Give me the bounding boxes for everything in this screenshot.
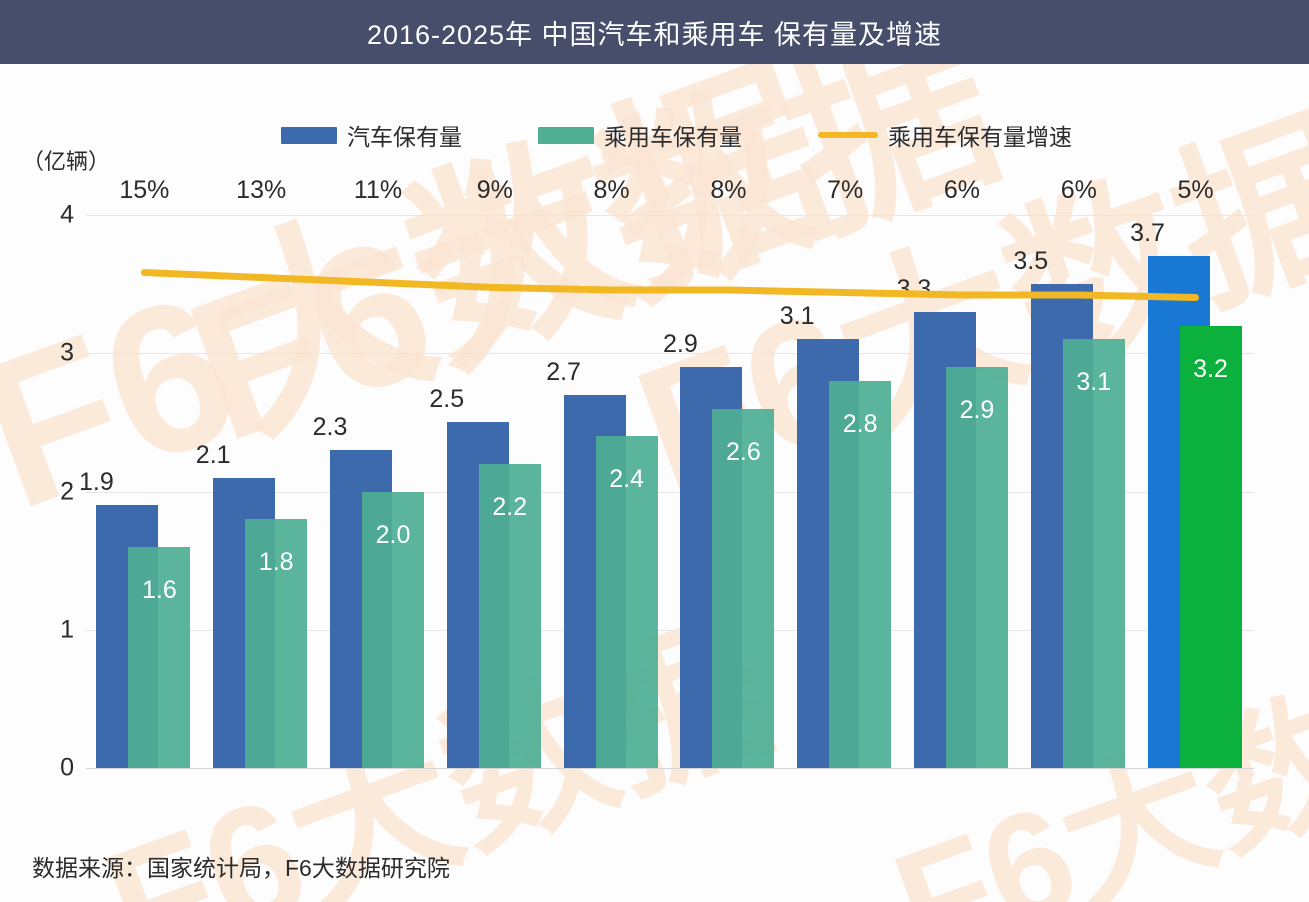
passenger-bar[interactable] [1180,326,1242,768]
passenger-bar-value-label: 1.8 [245,548,307,577]
passenger-bar-value-label: 2.6 [712,438,774,467]
growth-rate-label: 13% [203,176,320,210]
vehicle-bar-value-label: 2.3 [285,413,375,442]
gridline [86,768,1254,769]
bar-group-2017[interactable]: 2.11.8 [203,215,320,768]
y-axis-tick: 1 [42,615,74,644]
growth-rate-label-row: 15%13%11%9%8%8%7%6%6%5% [86,176,1254,210]
passenger-bar[interactable] [1063,339,1125,768]
y-axis-tick: 3 [42,339,74,368]
vehicle-bar-value-label: 3.7 [1103,219,1193,248]
bar-series-layer: 1.91.62.11.82.32.02.52.22.72.42.92.63.12… [86,215,1254,768]
x-axis-tick-row [86,776,1254,812]
legend-item-3[interactable]: 乘用车保有量增速 [818,118,1072,152]
legend-label: 乘用车保有量增速 [888,118,1072,152]
chart-canvas: F6大数据 F6大数据 F6大数据 F6大数据 F6大数据 汽车保有量乘用车保有… [0,64,1309,902]
growth-rate-label: 8% [670,176,787,210]
y-axis-tick: 0 [42,754,74,783]
vehicle-bar-value-label: 2.1 [168,441,258,470]
passenger-bar-value-label: 2.4 [596,465,658,494]
legend-label: 汽车保有量 [347,118,462,152]
source-note: 数据来源：国家统计局，F6大数据研究院 [32,849,450,883]
vehicle-bar-value-label: 2.5 [402,385,492,414]
growth-rate-label: 6% [904,176,1021,210]
vehicle-bar-value-label: 3.3 [869,275,959,304]
passenger-bar-value-label: 2.0 [362,521,424,550]
legend-item-2[interactable]: 乘用车保有量 [538,118,742,152]
passenger-bar-value-label: 3.1 [1063,368,1125,397]
square-swatch-icon [538,127,594,144]
vehicle-bar-value-label: 2.9 [635,330,725,359]
bar-group-2024[interactable]: 3.53.1 [1020,215,1137,768]
growth-rate-label: 11% [320,176,437,210]
passenger-bar-value-label: 2.2 [479,493,541,522]
growth-rate-label: 5% [1137,176,1254,210]
vehicle-bar-value-label: 3.1 [752,302,842,331]
vehicle-bar-value-label: 3.5 [986,247,1076,276]
growth-rate-label: 8% [553,176,670,210]
bar-group-2023[interactable]: 3.32.9 [904,215,1021,768]
growth-rate-label: 9% [436,176,553,210]
bar-group-2021[interactable]: 2.92.6 [670,215,787,768]
growth-rate-label: 7% [787,176,904,210]
growth-rate-label: 6% [1020,176,1137,210]
bar-group-2019[interactable]: 2.52.2 [436,215,553,768]
legend-item-1[interactable]: 汽车保有量 [281,118,462,152]
legend-label: 乘用车保有量 [604,118,742,152]
line-swatch-icon [818,132,878,138]
passenger-bar-value-label: 1.6 [128,576,190,605]
y-axis-tick: 4 [42,201,74,230]
square-swatch-icon [281,127,337,144]
vehicle-bar-value-label: 1.9 [51,468,141,497]
passenger-bar-value-label: 2.9 [946,396,1008,425]
passenger-bar-value-label: 3.2 [1180,355,1242,384]
vehicle-bar-value-label: 2.7 [519,358,609,387]
growth-rate-label: 15% [86,176,203,210]
passenger-bar[interactable] [946,367,1008,768]
passenger-bar[interactable] [829,381,891,768]
y-axis-unit-label: （亿辆） [22,144,110,176]
bar-group-2016[interactable]: 1.91.6 [86,215,203,768]
passenger-bar-value-label: 2.8 [829,410,891,439]
chart-header: 2016-2025年 中国汽车和乘用车 保有量及增速 [0,0,1309,64]
chart-legend: 汽车保有量乘用车保有量乘用车保有量增速 [281,118,1072,152]
bar-group-2018[interactable]: 2.32.0 [320,215,437,768]
bar-group-2020[interactable]: 2.72.4 [553,215,670,768]
bar-group-2025E[interactable]: 3.73.2 [1137,215,1254,768]
page-title: 2016-2025年 中国汽车和乘用车 保有量及增速 [367,13,942,52]
